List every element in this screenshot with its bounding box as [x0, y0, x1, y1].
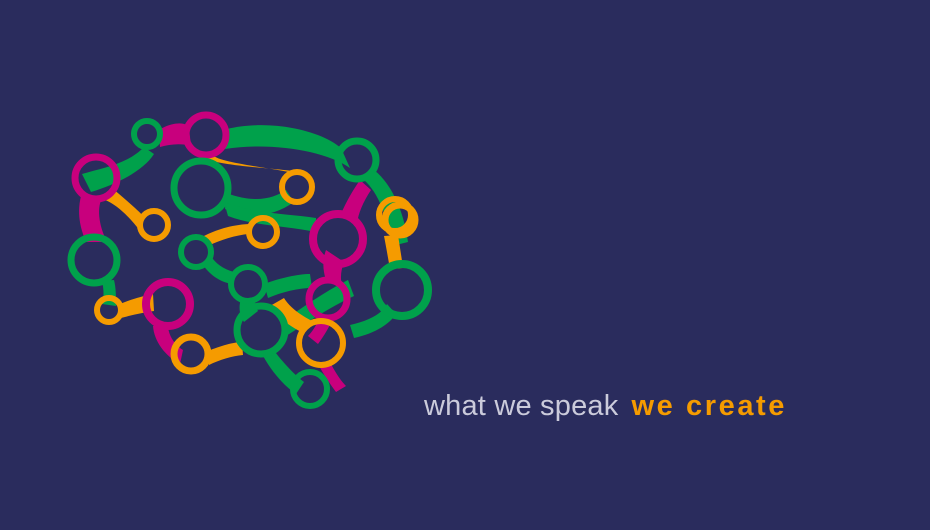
node-ring-n17	[237, 306, 285, 354]
node-ring-n1	[186, 115, 226, 155]
node-ring-n10	[71, 237, 117, 283]
tagline: what we speak we create	[424, 390, 787, 430]
link-green-k	[264, 274, 312, 298]
node-ring-n12	[181, 237, 211, 267]
slide-canvas: what we speak we create	[0, 0, 930, 530]
node-ring-n6	[282, 172, 312, 202]
node-ring-n19	[376, 264, 428, 316]
node-ring-n13	[231, 267, 265, 301]
tagline-accent-text: we create	[631, 390, 787, 423]
node-ring-n4	[140, 211, 168, 239]
node-ring-n9	[313, 214, 363, 264]
node-rings	[71, 115, 428, 406]
node-ring-n5	[174, 161, 228, 215]
node-ring-n2	[134, 121, 160, 147]
link-orange-d	[208, 342, 243, 365]
brain-network-logo	[58, 92, 438, 432]
brain-network-svg	[58, 92, 438, 432]
link-green-b	[223, 125, 350, 168]
tagline-light-text: what we speak	[424, 390, 618, 423]
